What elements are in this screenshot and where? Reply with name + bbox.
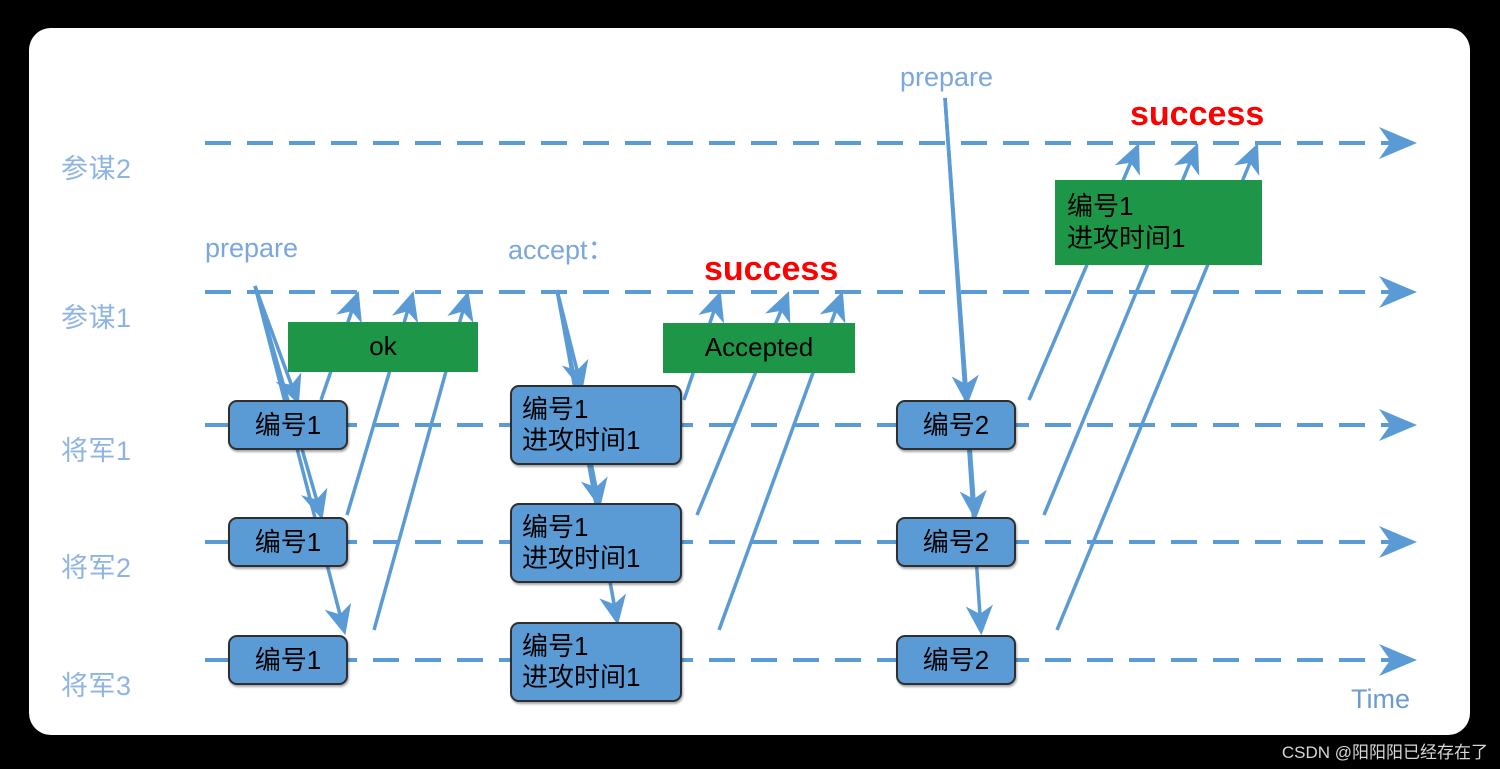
node-box-general2-prepare-round2[interactable]: 编号2: [896, 517, 1016, 567]
success-label-staff2: success: [1130, 97, 1264, 131]
diagram-vector-layer: [29, 28, 1470, 735]
green-box-promise-line-2: 进攻时间1: [1055, 223, 1262, 254]
node-box-general3-prepare-round1[interactable]: 编号1: [228, 635, 348, 685]
node-box-general3-prepare-round2[interactable]: 编号2: [896, 635, 1016, 685]
green-box-accepted: Accepted: [663, 323, 855, 373]
lane-label-staff2: 参谋2: [61, 156, 132, 183]
node-box-general3-accept-round1[interactable]: 编号1 进攻时间1: [510, 622, 682, 702]
green-box-promise-line-1: 编号1: [1055, 191, 1262, 222]
node-box-line-1: 编号1: [512, 394, 680, 425]
node-box-general1-accept-round1[interactable]: 编号1 进攻时间1: [510, 385, 682, 465]
watermark: CSDN @阳阳阳已经存在了: [1282, 738, 1488, 763]
green-box-ok: ok: [288, 322, 478, 372]
node-box-line-2: 进攻时间1: [512, 662, 680, 693]
node-box-general2-prepare-round1[interactable]: 编号1: [228, 517, 348, 567]
node-box-general1-prepare-round2[interactable]: 编号2: [896, 400, 1016, 450]
node-box-line-1: 编号1: [512, 631, 680, 662]
node-box-line: 编号2: [898, 645, 1014, 676]
lane-label-general3: 将军3: [61, 673, 132, 700]
node-box-line-2: 进攻时间1: [512, 543, 680, 574]
lane-label-staff1: 参谋1: [61, 305, 132, 332]
node-box-line-2: 进攻时间1: [512, 425, 680, 456]
message-label-prepare-round1: prepare: [205, 235, 298, 262]
node-box-line: 编号1: [230, 645, 346, 676]
diagram-root: 参谋2 参谋1 将军1 将军2 将军3 prepare accept： prep…: [0, 0, 1500, 769]
node-box-general1-prepare-round1[interactable]: 编号1: [228, 400, 348, 450]
green-box-promise: 编号1 进攻时间1: [1055, 180, 1262, 265]
green-box-ok-line-1: ok: [288, 331, 478, 362]
node-box-line: 编号1: [230, 527, 346, 558]
node-box-line-1: 编号1: [512, 512, 680, 543]
success-label-staff1: success: [704, 252, 838, 286]
diagram-canvas: 参谋2 参谋1 将军1 将军2 将军3 prepare accept： prep…: [29, 28, 1470, 735]
node-box-line: 编号2: [898, 527, 1014, 558]
message-label-prepare-round2: prepare: [900, 64, 993, 91]
node-box-line: 编号2: [898, 410, 1014, 441]
lane-label-general1: 将军1: [61, 438, 132, 465]
green-box-accepted-line-1: Accepted: [663, 332, 855, 363]
message-label-accept-round1: accept：: [508, 237, 615, 264]
node-box-line: 编号1: [230, 410, 346, 441]
node-box-general2-accept-round1[interactable]: 编号1 进攻时间1: [510, 503, 682, 583]
lane-label-general2: 将军2: [61, 555, 132, 582]
time-axis-label: Time: [1351, 686, 1410, 713]
